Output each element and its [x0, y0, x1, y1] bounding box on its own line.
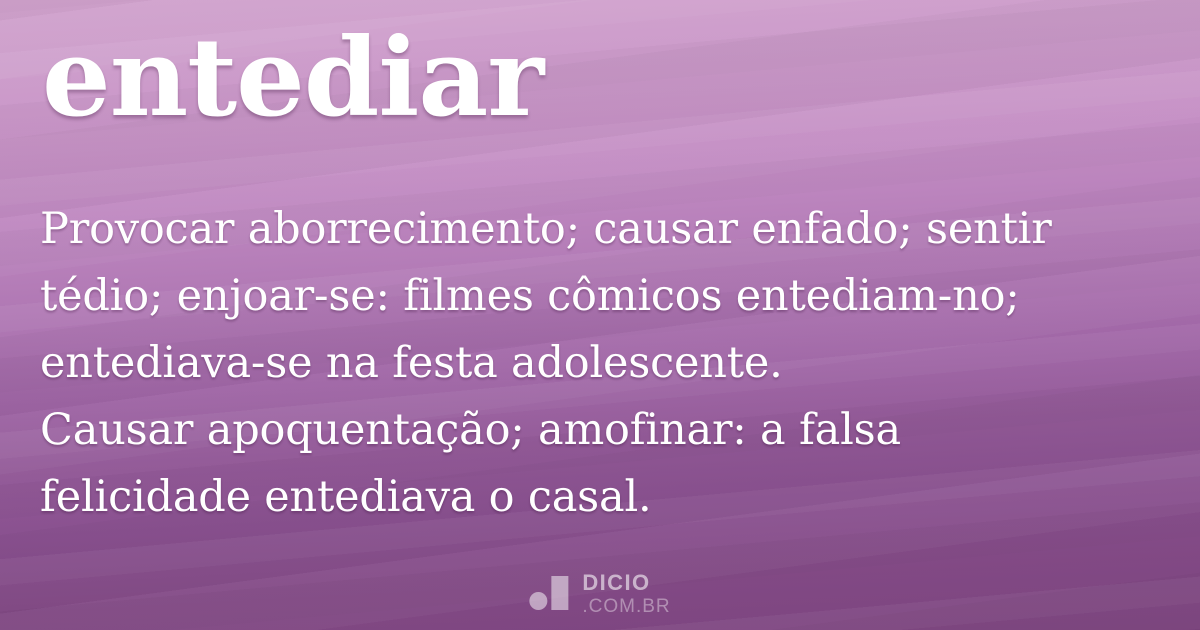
logo-brand-name: DICIO	[582, 572, 670, 594]
definition-line: Causar apoquentação; amofinar: a falsa	[40, 397, 1170, 464]
logo-circle-icon	[529, 592, 547, 610]
definition-line: tédio; enjoar-se: filmes cômicos entedia…	[40, 263, 1170, 330]
logo-mark-icon	[529, 575, 573, 613]
logo-domain-suffix: .COM.BR	[582, 597, 670, 616]
definition-line: entediava-se na festa adolescente.	[40, 330, 1170, 397]
card-content: entediar Provocar aborrecimento; causar …	[0, 0, 1200, 630]
definition-line: Provocar aborrecimento; causar enfado; s…	[40, 196, 1170, 263]
dictionary-definition-card: entediar Provocar aborrecimento; causar …	[0, 0, 1200, 630]
definition-text-block: Provocar aborrecimento; causar enfado; s…	[40, 196, 1170, 531]
definition-line: felicidade entediava o casal.	[40, 464, 1170, 531]
logo-rectangle-icon	[551, 576, 568, 610]
dicio-logo[interactable]: DICIO .COM.BR	[529, 572, 670, 616]
logo-wordmark: DICIO .COM.BR	[582, 572, 670, 616]
headword-title: entediar	[42, 24, 543, 132]
